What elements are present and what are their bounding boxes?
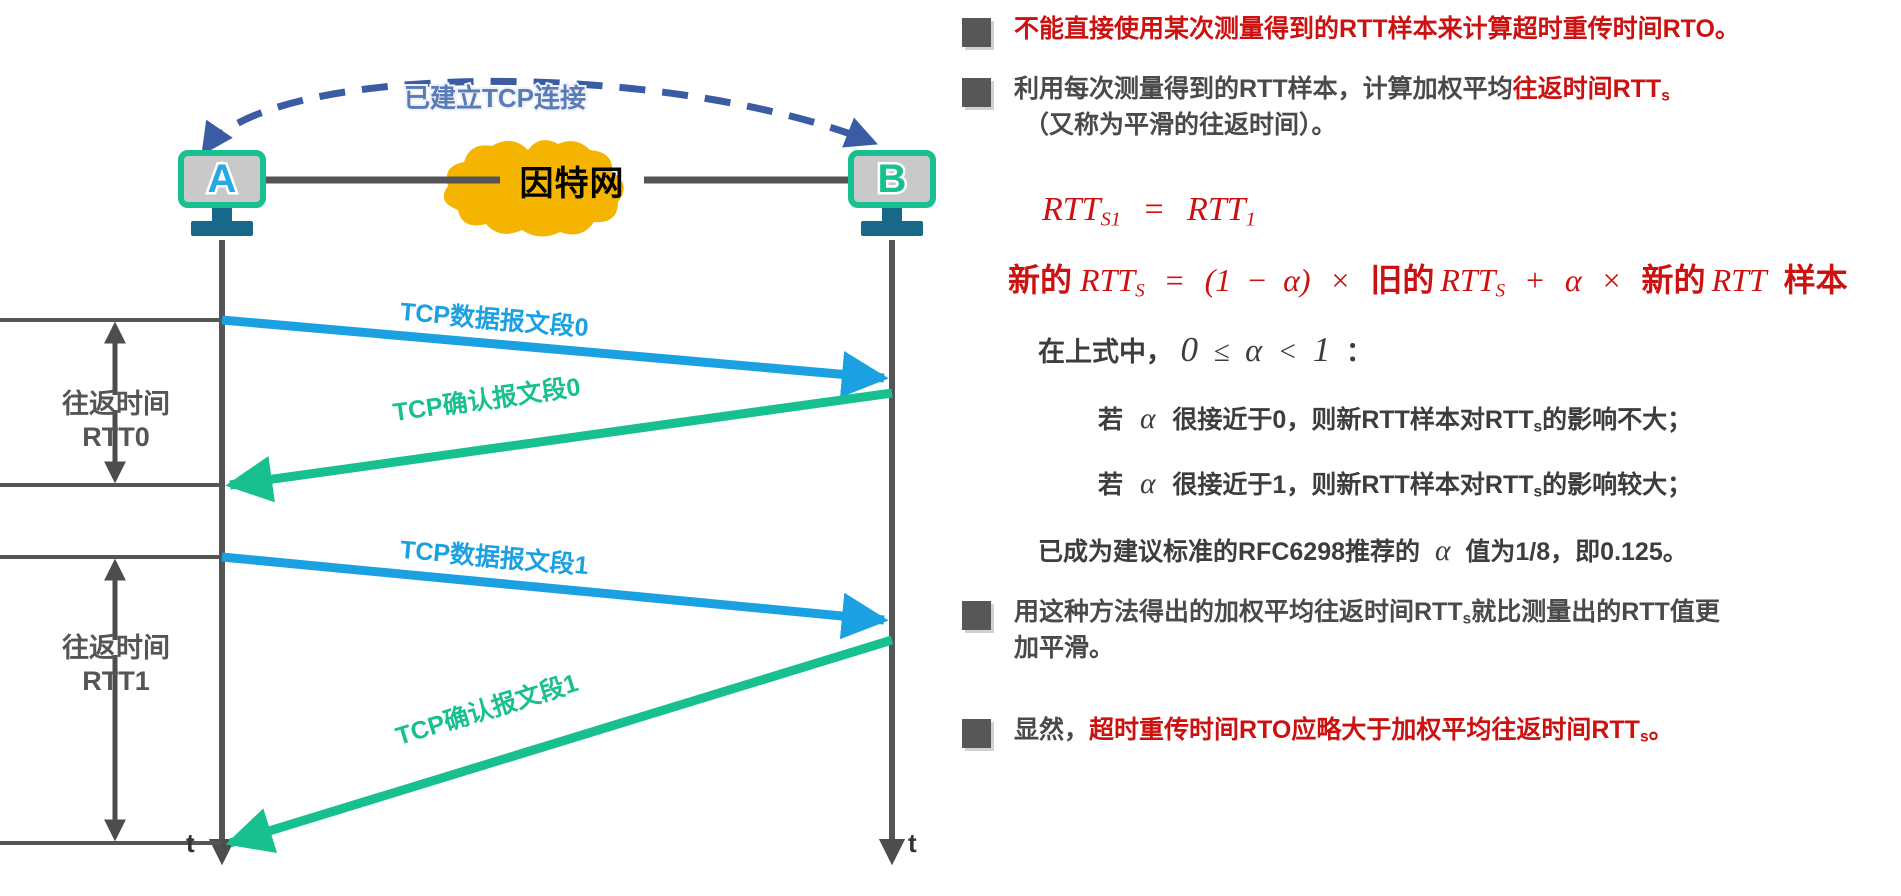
- bullet-4-lead: 显然，: [1014, 716, 1089, 744]
- internet-cloud-label: 因特网: [492, 142, 652, 218]
- bullet-3-line2: 加平滑。: [1014, 631, 1720, 667]
- formula2-plus: +: [1526, 262, 1544, 298]
- host-a-stand: [178, 208, 266, 238]
- rtt0-title: 往返时间: [18, 388, 214, 421]
- alpha-note-1-alpha: α: [1140, 403, 1156, 435]
- alpha-range-line: 在上式中， 0 ≤ α < 1 ：: [1038, 330, 1373, 370]
- formula2-p2: RTT: [1080, 262, 1135, 298]
- formula2-p8: 旧的: [1370, 262, 1434, 298]
- alpha-range-zero: 0: [1181, 330, 1199, 369]
- time-label-b: t: [908, 828, 917, 859]
- bullet-2-highlight-sub: s: [1661, 87, 1670, 104]
- formula2-p14: RTT: [1712, 262, 1767, 298]
- formula2-p2-sub: S: [1135, 280, 1145, 301]
- bullet-4-text: 显然，超时重传时间RTO应略大于加权平均往返时间RTTs。: [1014, 713, 1674, 749]
- formula2-p13: 新的: [1642, 262, 1706, 298]
- established-connection-label: 已建立TCP连接: [404, 78, 586, 115]
- bullet-3-lead: 用这种方法得出的加权平均往返时间RTT: [1014, 598, 1463, 626]
- host-a-label: A: [208, 159, 237, 199]
- formula2-minus: −: [1248, 262, 1266, 298]
- host-b-label: B: [878, 159, 907, 199]
- bullet-4-highlight-sub: s: [1640, 728, 1649, 745]
- bullet-2-highlight: 往返时间RTT: [1513, 75, 1662, 103]
- alpha-range-le: ≤: [1214, 336, 1230, 368]
- formula1-lhs-sub: S1: [1101, 209, 1121, 231]
- formula1-lhs: RTT: [1042, 191, 1101, 228]
- bullet-4-highlight: 超时重传时间RTO应略大于加权平均往返时间RTT: [1089, 716, 1640, 744]
- bullet-2-line2: （又称为平滑的往返时间）。: [1024, 108, 1670, 144]
- formula-rtts1: RTTS1 = RTT1: [1042, 190, 1256, 232]
- bullet-2-text: 利用每次测量得到的RTT样本，计算加权平均往返时间RTTs （又称为平滑的往返时…: [1014, 72, 1670, 143]
- alpha-note-2: 若 α 很接近于1，则新RTT样本对RTTs的影响较大；: [1098, 465, 1692, 501]
- alpha-note-1-text: 很接近于0，则新RTT样本对RTT: [1172, 406, 1533, 434]
- explanation-panel: 不能直接使用某次测量得到的RTT样本来计算超时重传时间RTO。 利用每次测量得到…: [950, 0, 1901, 896]
- bullet-3-lead-tail: 就比测量出的RTT值更: [1471, 598, 1720, 626]
- formula1-rhs: RTT: [1187, 191, 1246, 228]
- alpha-note-2-sub: s: [1534, 483, 1543, 500]
- rfc-recommendation-line: 已成为建议标准的RFC6298推荐的 α 值为1/8，即0.125。: [1038, 532, 1688, 568]
- rtt0-name: RTT0: [18, 421, 214, 454]
- bullet-1-text: 不能直接使用某次测量得到的RTT样本来计算超时重传时间RTO。: [1014, 12, 1740, 48]
- host-a: A: [178, 150, 266, 208]
- alpha-range-colon: ：: [1346, 337, 1373, 367]
- slide-canvas: A B 因特网 已建立TCP连接 TCP数据报文段0 TCP确认报文段0 TCP…: [0, 0, 1901, 896]
- formula2-eq: =: [1166, 262, 1184, 298]
- bullet-item-4: 显然，超时重传时间RTO应略大于加权平均往返时间RTTs。: [962, 713, 1892, 749]
- alpha-note-1-prefix: 若: [1098, 406, 1123, 434]
- formula2-p15: 样本: [1784, 262, 1848, 298]
- formula2-alpha: α: [1565, 262, 1582, 298]
- tcp-rtt-sequence-diagram: A B 因特网 已建立TCP连接 TCP数据报文段0 TCP确认报文段0 TCP…: [0, 0, 950, 896]
- time-label-a: t: [186, 828, 195, 859]
- alpha-note-1-sub: s: [1534, 418, 1543, 435]
- formula2-times-1: ×: [1331, 262, 1349, 298]
- formula1-rhs-sub: 1: [1246, 209, 1256, 231]
- formula1-eq: =: [1144, 191, 1163, 228]
- alpha-note-2-alpha: α: [1140, 468, 1156, 500]
- formula2-times-2: ×: [1603, 262, 1621, 298]
- bullet-3-lead-sub: s: [1463, 610, 1472, 627]
- rtt0-label: 往返时间 RTT0: [18, 388, 214, 454]
- message-arrow-ack-0: [230, 393, 892, 485]
- rfc-tail: 值为1/8，即0.125。: [1465, 538, 1687, 566]
- host-b: B: [848, 150, 936, 208]
- formula2-p9: RTT: [1440, 262, 1495, 298]
- bullet-3-text: 用这种方法得出的加权平均往返时间RTTs就比测量出的RTT值更 加平滑。: [1014, 595, 1720, 666]
- bullet-2-lead: 利用每次测量得到的RTT样本，计算加权平均: [1014, 75, 1513, 103]
- rfc-prefix: 已成为建议标准的RFC6298推荐的: [1038, 538, 1420, 566]
- rtt1-title: 往返时间: [18, 632, 214, 665]
- alpha-note-2-prefix: 若: [1098, 471, 1123, 499]
- bullet-item-3: 用这种方法得出的加权平均往返时间RTTs就比测量出的RTT值更 加平滑。: [962, 595, 1892, 666]
- alpha-note-1: 若 α 很接近于0，则新RTT样本对RTTs的影响不大；: [1098, 400, 1692, 436]
- alpha-note-2-tail: 的影响较大；: [1542, 471, 1692, 499]
- rtt1-name: RTT1: [18, 665, 214, 698]
- formula-rtts-weighted: 新的RTTS = (1 − α) × 旧的RTTS + α × 新的RTT 样本: [1008, 255, 1848, 302]
- bullet-square-icon: [962, 18, 991, 47]
- alpha-range-alpha: α: [1245, 333, 1262, 369]
- formula2-p6: α): [1283, 262, 1310, 298]
- formula2-p4: (1: [1205, 262, 1232, 298]
- bullet-4-highlight-tail: 。: [1649, 716, 1674, 744]
- alpha-range-prefix: 在上式中，: [1038, 337, 1173, 367]
- host-b-stand: [848, 208, 936, 238]
- alpha-note-1-tail: 的影响不大；: [1542, 406, 1692, 434]
- rtt1-label: 往返时间 RTT1: [18, 632, 214, 698]
- bullet-square-icon: [962, 78, 991, 107]
- alpha-note-2-text: 很接近于1，则新RTT样本对RTT: [1172, 471, 1533, 499]
- rfc-alpha: α: [1435, 535, 1451, 567]
- formula2-p1: 新的: [1008, 262, 1072, 298]
- bullet-item-2: 利用每次测量得到的RTT样本，计算加权平均往返时间RTTs （又称为平滑的往返时…: [962, 72, 1892, 143]
- alpha-range-one: 1: [1313, 330, 1331, 369]
- bullet-square-icon: [962, 719, 991, 748]
- alpha-range-lt: <: [1278, 336, 1298, 368]
- bullet-item-1: 不能直接使用某次测量得到的RTT样本来计算超时重传时间RTO。: [962, 12, 1892, 48]
- bullet-square-icon: [962, 601, 991, 630]
- internet-cloud: 因特网: [492, 142, 652, 218]
- formula2-p9-sub: S: [1496, 280, 1506, 301]
